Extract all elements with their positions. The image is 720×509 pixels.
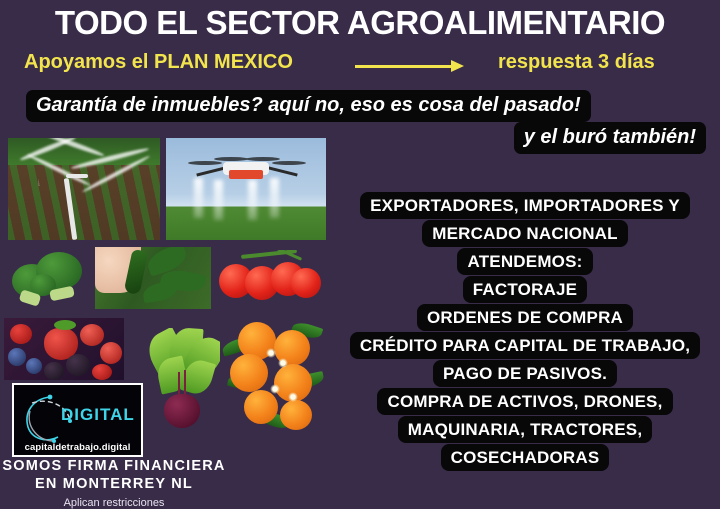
company-logo: DIGITAL capitaldetrabajo.digital (12, 383, 143, 457)
advertisement-poster: TODO EL SECTOR AGROALIMENTARIO Apoyamos … (0, 0, 720, 509)
broccoli-photo (6, 248, 94, 310)
footer-line-1: SOMOS FIRMA FINANCIERA (0, 457, 228, 475)
irrigation-sprinklers-photo (8, 138, 160, 240)
service-line: CRÉDITO PARA CAPITAL DE TRABAJO, (336, 332, 714, 359)
service-line: MERCADO NACIONAL (336, 220, 714, 247)
page-title: TODO EL SECTOR AGROALIMENTARIO (0, 4, 720, 42)
service-line: PAGO DE PASIVOS. (336, 360, 714, 387)
service-line-text: COMPRA DE ACTIVOS, DRONES, (377, 388, 672, 415)
service-line-text: FACTORAJE (463, 276, 587, 303)
service-line: ATENDEMOS: (336, 248, 714, 275)
arrow-head (451, 60, 464, 72)
service-line-text: PAGO DE PASIVOS. (433, 360, 617, 387)
service-line-text: MAQUINARIA, TRACTORES, (398, 416, 653, 443)
oranges-photo (222, 318, 327, 430)
service-line-text: EXPORTADORES, IMPORTADORES Y (360, 192, 690, 219)
jalapeno-pepper-photo (95, 247, 211, 309)
banner-credit-bureau: y el buró también! (514, 122, 706, 154)
service-line-text: MERCADO NACIONAL (422, 220, 627, 247)
service-line-text: COSECHADORAS (441, 444, 610, 471)
beet-photo (148, 328, 220, 428)
footer-disclaimer: Aplican restricciones (0, 495, 228, 509)
footer-line-2: EN MONTERREY NL (0, 475, 228, 493)
service-line: FACTORAJE (336, 276, 714, 303)
service-line: EXPORTADORES, IMPORTADORES Y (336, 192, 714, 219)
agricultural-drone-photo (166, 138, 326, 240)
berries-photo (4, 318, 124, 380)
services-list: EXPORTADORES, IMPORTADORES Y MERCADO NAC… (336, 192, 714, 472)
right-arrow-icon (355, 60, 470, 74)
footer: SOMOS FIRMA FINANCIERA EN MONTERREY NL A… (0, 457, 228, 509)
subtitle-left: Apoyamos el PLAN MEXICO (24, 48, 293, 76)
service-line: COSECHADORAS (336, 444, 714, 471)
subtitle-right: respuesta 3 días (498, 48, 655, 76)
service-line: MAQUINARIA, TRACTORES, (336, 416, 714, 443)
service-line-text: CRÉDITO PARA CAPITAL DE TRABAJO, (350, 332, 700, 359)
arrow-shaft (355, 65, 453, 68)
logo-wordmark: DIGITAL (61, 405, 135, 425)
service-line-text: ATENDEMOS: (457, 248, 592, 275)
service-line: COMPRA DE ACTIVOS, DRONES, (336, 388, 714, 415)
subtitle-row: Apoyamos el PLAN MEXICO respuesta 3 días (0, 48, 720, 78)
tomatoes-photo (215, 250, 325, 310)
service-line-text: ORDENES DE COMPRA (417, 304, 633, 331)
logo-url: capitaldetrabajo.digital (14, 442, 141, 453)
banner-guarantee: Garantía de inmuebles? aquí no, eso es c… (26, 90, 591, 122)
service-line: ORDENES DE COMPRA (336, 304, 714, 331)
